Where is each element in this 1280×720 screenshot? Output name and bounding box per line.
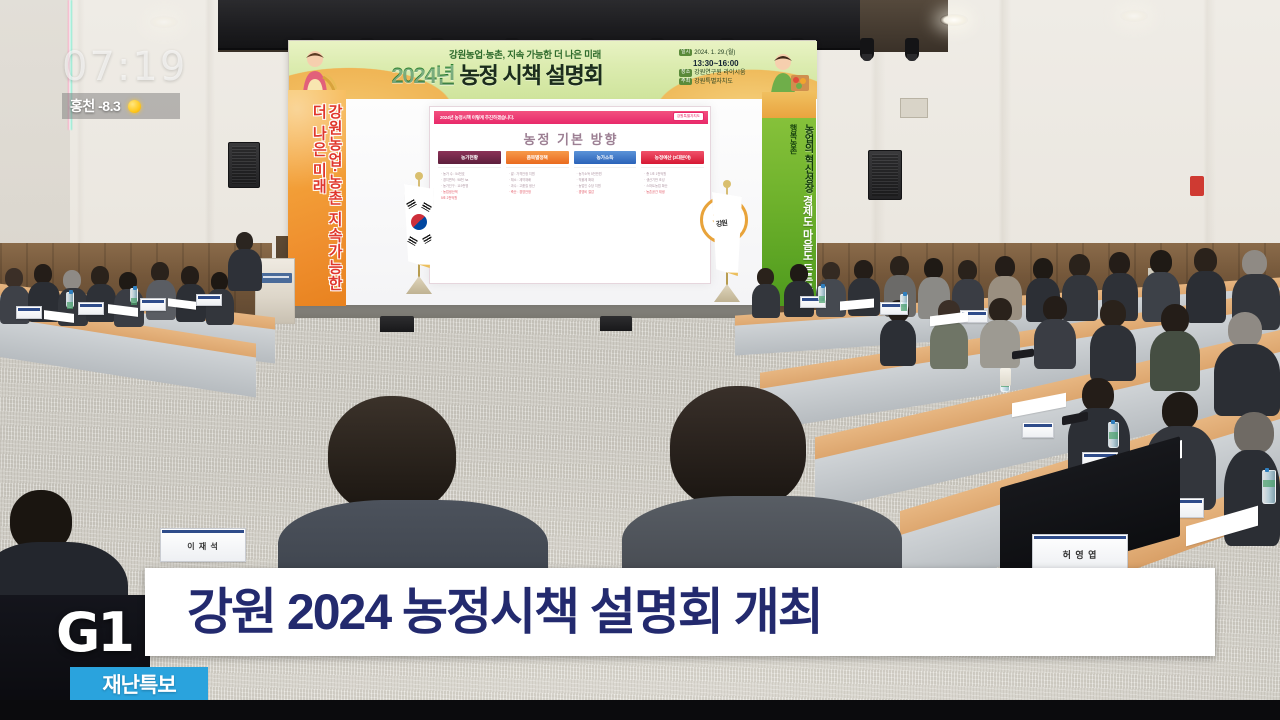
person-head [1109, 252, 1130, 275]
slide-column-body: · 쌀 : 가격안정 지원 · 채소 : 계약재배 · 과수 : 고품질 생산 … [506, 167, 569, 285]
person-head [1234, 412, 1274, 454]
flag-finial [415, 172, 423, 180]
trigram [421, 202, 432, 212]
weather-widget: 홍천 -8.3 [62, 93, 180, 119]
nameplate-bar [142, 300, 164, 303]
person-head [958, 260, 977, 281]
broadcast-frame: 강원농업·농촌, 지속 가능한 더 나은 미래 2024년 농정 시책 설명회 … [0, 0, 1280, 720]
stage-spotlight [905, 38, 919, 60]
meta-tag: 장소 [679, 69, 692, 76]
person-head [989, 298, 1012, 322]
flag-finial [723, 180, 731, 188]
person-head [854, 260, 873, 280]
banner-line-1: 농업의 혁신성장 [799, 124, 815, 193]
attendee [176, 266, 206, 320]
person-head [328, 396, 456, 514]
person-body [930, 321, 968, 369]
person-head [1100, 300, 1126, 327]
meta-value: 강원연구원 라이시움 [694, 70, 745, 76]
person-head [1242, 250, 1267, 276]
person-head [995, 256, 1015, 278]
person-head [890, 256, 909, 277]
nameplate-name: 허 영 엽 [1033, 548, 1127, 561]
water-bottle [1262, 470, 1276, 504]
slide-line: · 축산 : 경영안정 [509, 190, 566, 196]
person-head [1043, 296, 1067, 321]
slide-column-body: · 농가 수 : 54천호 · 경지면적 : 98천 ha · 농가인구 : 1… [438, 167, 501, 285]
bottle-label [901, 304, 907, 311]
person-head [91, 266, 109, 286]
slide-column: 농가소득 · 농가소득 5천만원 · 직불제 확대 · 농업인 수당 지원 · … [574, 151, 637, 285]
banner-meta-time: 13:30~16:00 [693, 58, 811, 70]
attendee [1090, 300, 1136, 376]
slide-columns: 농가현황 · 농가 수 : 54천호 · 경지면적 : 98천 ha · 농가인… [438, 151, 704, 285]
banner-meta-row: 일시2024. 1. 29.(월) [679, 49, 811, 58]
slide-header-text: 2024년 농정시책 이렇게 추진하겠습니다. [434, 115, 514, 121]
flag-base [714, 284, 740, 302]
person-head [1082, 378, 1114, 412]
person-body [980, 320, 1020, 368]
slide-column-header: 농가소득 [574, 151, 637, 164]
meta-tag: 일시 [679, 49, 692, 56]
taeguk-symbol [411, 214, 427, 230]
nameplate-bar [198, 296, 220, 299]
banner-title-main: 농정 시책 설명회 [460, 63, 603, 88]
nameplate-bar [80, 304, 102, 307]
event-banner: 강원농업·농촌, 지속 가능한 더 나은 미래 2024년 농정 시책 설명회 … [289, 41, 817, 99]
nameplate-name: 이 재 석 [161, 541, 245, 552]
nameplate: 이 재 석 [160, 528, 246, 562]
foreground-attendee-left [0, 430, 118, 590]
person-head [63, 270, 81, 290]
banner-meta-row: 주최강원특별자치도 [679, 78, 811, 87]
ceiling-downlight [940, 14, 968, 26]
nameplate [140, 298, 166, 311]
stage-spotlight [860, 38, 874, 60]
channel-logo: G1 [56, 604, 154, 662]
person-body [1090, 325, 1136, 381]
slide-column-body: · 농가소득 5천만원 · 직불제 확대 · 농업인 수당 지원 · 경영비 절… [574, 167, 637, 285]
vertical-banner-left: 강원농업·농촌 지속가능한 더 나은 미래 [288, 90, 346, 306]
person-body [1214, 344, 1280, 416]
person-head [1194, 248, 1217, 273]
slide-title: 농정 기본 방향 [430, 129, 712, 148]
meta-value: 2024. 1. 29.(월) [694, 50, 735, 56]
bottle-label [819, 296, 825, 303]
flag-base [406, 276, 432, 294]
water-bottle [900, 294, 908, 311]
sun-icon [128, 100, 141, 113]
floor-monitor [600, 316, 632, 331]
nameplate [16, 306, 42, 319]
person-body [880, 320, 916, 366]
foreground-attendee-center-right [640, 386, 890, 586]
slide-line: 5조 2천억원 [441, 196, 498, 202]
alert-badge-text: 재난특보 [102, 669, 175, 699]
slide-column-header: 농가현황 [438, 151, 501, 164]
floor-monitor [380, 316, 414, 332]
podium-label [260, 273, 292, 283]
person-head [1161, 304, 1189, 334]
bottle-label [1109, 432, 1118, 439]
person-head [5, 268, 23, 288]
person-body [1150, 331, 1200, 391]
person-head [670, 386, 806, 510]
slide-org-chip: 강원특별자치도 [673, 112, 704, 121]
nameplate [1022, 422, 1054, 438]
vertical-banner-left-text: 강원농업·농촌 지속가능한 더 나은 미래 [292, 104, 342, 306]
water-bottle [66, 292, 74, 308]
attendee [1150, 304, 1200, 388]
banner-line-3: 행복농촌 [788, 124, 799, 154]
slide-line: · 경영비 절감 [577, 190, 634, 196]
tumbler [1000, 368, 1011, 386]
person-body [848, 278, 880, 316]
nameplate-bar [162, 530, 244, 533]
clock-display: 07:19 [62, 44, 182, 90]
banner-meta: 일시2024. 1. 29.(월) 13:30~16:00 장소강원연구원 라이… [679, 49, 811, 87]
banner-meta-row: 장소강원연구원 라이시움 [679, 69, 811, 78]
person-head [1033, 258, 1053, 280]
ceiling-downlight [150, 16, 178, 28]
water-bottle [130, 288, 138, 303]
water-bottle [1108, 422, 1119, 448]
person-head [1150, 250, 1172, 274]
person-head [924, 258, 943, 279]
bottle-label [1263, 480, 1275, 487]
person-head [34, 264, 52, 284]
letterbox-bottom [0, 700, 1280, 720]
bottle-label [131, 298, 137, 305]
person-head [1228, 312, 1262, 348]
trigram [422, 234, 433, 244]
slide-column: 품목별정책 · 쌀 : 가격안정 지원 · 채소 : 계약재배 · 과수 : 고… [506, 151, 569, 285]
presentation-slide: 2024년 농정시책 이렇게 추진하겠습니다. 강원특별자치도 농정 기본 방향… [429, 106, 711, 284]
wall-left-shadow [0, 0, 70, 250]
person-head [1069, 254, 1090, 277]
headline-text: 강원 2024 농정시책 설명회 개최 [145, 587, 822, 637]
nameplate [196, 294, 222, 306]
wall-speaker-right [868, 150, 902, 200]
fire-alarm-icon [1190, 176, 1204, 196]
korean-national-flag [392, 176, 446, 296]
banner-top-illustration [762, 92, 816, 118]
person-body [752, 284, 780, 318]
attendee [1214, 312, 1280, 412]
wall-speaker-left [228, 142, 260, 188]
wall-sign [900, 98, 928, 118]
slide-column-header: 농정예산 (3대분야) [641, 151, 704, 164]
person-head [1162, 392, 1198, 430]
weather-location-temp: 홍천 -8.3 [70, 96, 120, 116]
nameplate-bar [1034, 536, 1126, 539]
attendee [752, 268, 780, 314]
banner-title: 2024년 농정 시책 설명회 [317, 58, 677, 90]
headline-banner: 강원 2024 농정시책 설명회 개최 [145, 568, 1215, 656]
person-body [1034, 319, 1076, 369]
meta-value: 강원특별자치도 [694, 79, 733, 85]
slide-line: · 농촌공간 재생 [644, 190, 701, 196]
slide-column: 농가현황 · 농가 수 : 54천호 · 경지면적 : 98천 ha · 농가인… [438, 151, 501, 285]
water-bottle [818, 286, 826, 302]
nameplate [78, 302, 104, 315]
slide-column: 농정예산 (3대분야) · 총 1조 1천억원 · 생산기반 조성 · 스마트농… [641, 151, 704, 285]
nameplate-bar [1024, 424, 1052, 427]
flag-text: 강원 [715, 217, 738, 230]
ceiling-downlight [1120, 10, 1148, 22]
gangwon-province-flag: 강원 [700, 184, 754, 304]
slide-column-header: 품목별정책 [506, 151, 569, 164]
flag-cloth [404, 184, 434, 268]
slide-column-body: · 총 1조 1천억원 · 생산기반 조성 · 스마트농업 확산 · 농촌공간 … [641, 167, 704, 285]
bottle-label [67, 302, 73, 309]
trigram [407, 236, 418, 246]
meta-tag: 주최 [679, 78, 692, 85]
nameplate: 허 영 엽 [1032, 534, 1128, 570]
slide-header-bar: 2024년 농정시책 이렇게 추진하겠습니다. [434, 111, 708, 124]
trigram [406, 199, 417, 209]
foreground-attendee-center-left [300, 396, 540, 586]
attendee [1034, 296, 1076, 366]
alert-badge: 재난특보 [70, 667, 208, 701]
person-head [181, 266, 199, 286]
flag-cloth: 강원 [712, 192, 742, 276]
nameplate-bar [18, 308, 40, 311]
banner-title-year: 2024년 [391, 63, 454, 88]
person-head [151, 262, 169, 282]
